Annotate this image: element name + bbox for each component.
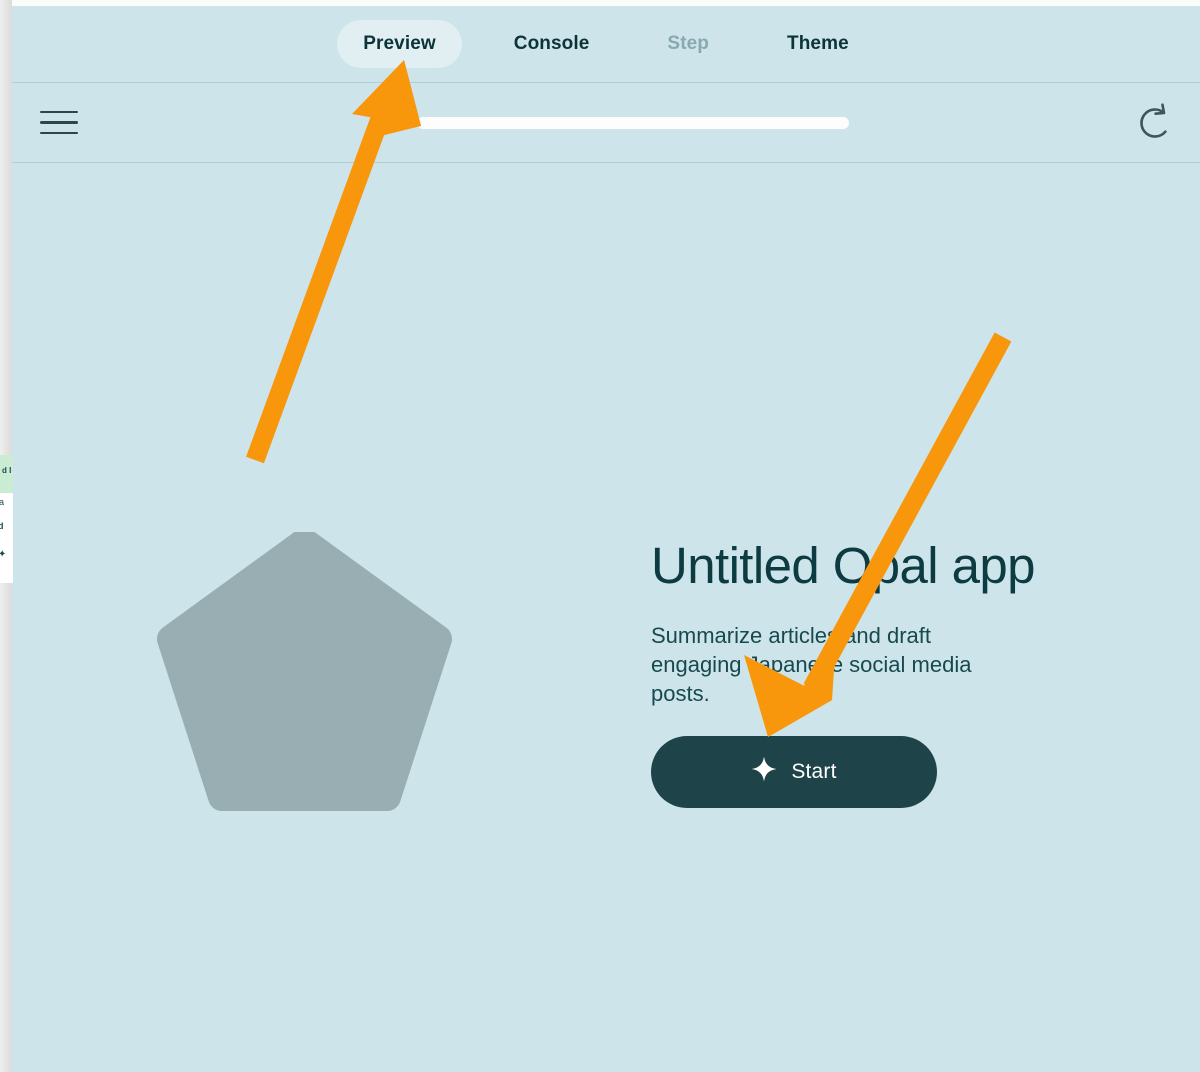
tab-bar: Preview Console Step Theme	[12, 6, 1200, 83]
background-panel-fragment: d I ea ed ✦	[0, 455, 13, 583]
app-hero-text: Untitled Opal app Summarize articles and…	[651, 538, 1091, 808]
reload-counterclockwise-icon[interactable]	[1132, 100, 1178, 146]
app-window: Preview Console Step Theme	[0, 0, 1200, 1072]
address-bar[interactable]	[417, 117, 849, 129]
tab-theme[interactable]: Theme	[761, 20, 875, 68]
tab-step-label: Step	[667, 33, 709, 54]
hamburger-bar-1	[40, 111, 78, 114]
pentagon-placeholder-icon	[157, 532, 452, 815]
page-title: Untitled Opal app	[651, 538, 1091, 593]
tab-console-label: Console	[514, 33, 590, 54]
panel-text-fragment: ea ed ✦	[0, 493, 13, 583]
tab-console[interactable]: Console	[488, 20, 616, 68]
start-button[interactable]: Start	[651, 736, 937, 808]
app-description: Summarize articles and draft engaging Ja…	[651, 621, 1003, 708]
status-dot-icon	[375, 118, 384, 127]
panel-text-line-2: ed	[0, 521, 4, 531]
hamburger-menu-icon[interactable]	[40, 102, 82, 144]
start-button-label: Start	[791, 760, 836, 784]
preview-toolbar	[12, 83, 1200, 163]
tab-preview-label: Preview	[363, 33, 436, 54]
tab-preview[interactable]: Preview	[337, 20, 462, 68]
panel-text-line-1: ea	[0, 497, 4, 507]
panel-text-line-3: ✦	[0, 549, 6, 560]
status-badge: d I	[0, 455, 13, 493]
status-badge-label: d I	[2, 466, 11, 475]
tab-theme-label: Theme	[787, 33, 849, 54]
opal-preview-panel: Preview Console Step Theme	[12, 6, 1200, 1072]
opal-app-body: Untitled Opal app Summarize articles and…	[12, 163, 1200, 1072]
sparkle-icon	[751, 756, 777, 788]
tab-step[interactable]: Step	[641, 20, 735, 68]
hamburger-bar-2	[40, 121, 78, 124]
hamburger-bar-3	[40, 132, 78, 135]
